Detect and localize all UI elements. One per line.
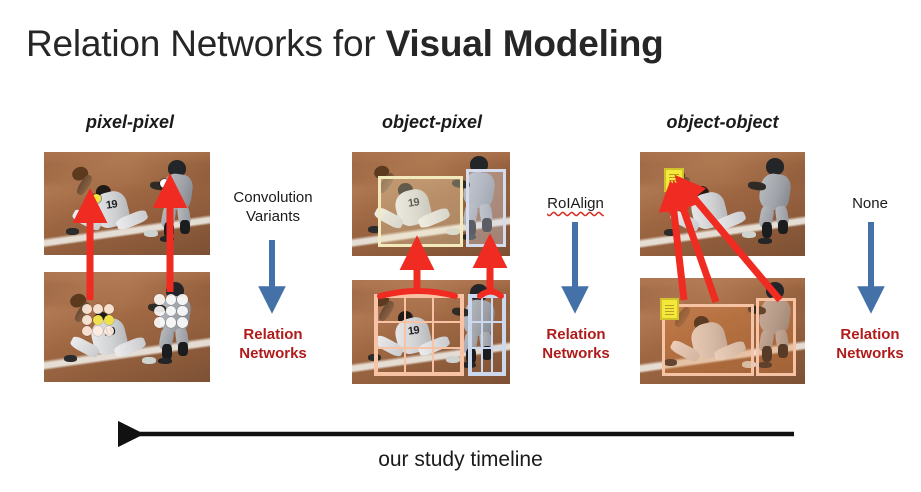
object-box-batter: [756, 298, 796, 376]
jersey-number-top: 19: [105, 198, 118, 211]
connector-label-none: None: [822, 194, 918, 213]
pixel-neighborhood-grid-yellow: [82, 304, 114, 336]
pixel-neighborhood-grid-white: [154, 294, 188, 328]
object-marker-yellow-top: [664, 168, 684, 192]
panel-pixel-pixel-bottom: 19: [44, 272, 210, 382]
panel-object-object-bottom: [640, 278, 805, 384]
connector-label-convolution-variants: Convolution Variants: [218, 188, 328, 226]
roi-bin-grid-pitcher: [374, 294, 464, 376]
slide-title-light: Relation Networks for: [26, 23, 386, 64]
relation-networks-label-1: Relation Networks: [218, 325, 328, 363]
slide-title-bold: Visual Modeling: [386, 23, 664, 64]
relation-networks-label-2: Relation Networks: [522, 325, 630, 363]
timeline-caption: our study timeline: [0, 448, 921, 472]
relation-networks-label-3: Relation Networks: [818, 325, 921, 363]
roi-bin-grid-batter: [468, 294, 506, 376]
column-header-pixel-pixel: pixel-pixel: [50, 112, 210, 133]
slide-canvas: Relation Networks for Visual Modeling pi…: [0, 0, 921, 492]
slide-title: Relation Networks for Visual Modeling: [26, 19, 664, 69]
column-header-object-pixel: object-pixel: [352, 112, 512, 133]
object-box-batter: [466, 169, 506, 247]
panel-object-pixel-top: 19: [352, 152, 510, 256]
object-marker-yellow-bottom: [660, 298, 679, 320]
panel-object-pixel-bottom: 19: [352, 280, 510, 384]
object-box-pitcher: [378, 176, 463, 247]
connector-label-roialign: RoIAlign: [528, 194, 623, 213]
panel-pixel-pixel-top: 19: [44, 152, 210, 255]
pixel-marker-white: [160, 179, 169, 188]
panel-object-object-top: [640, 152, 805, 256]
pixel-marker-yellow: [92, 194, 101, 203]
column-header-object-object: object-object: [640, 112, 805, 133]
